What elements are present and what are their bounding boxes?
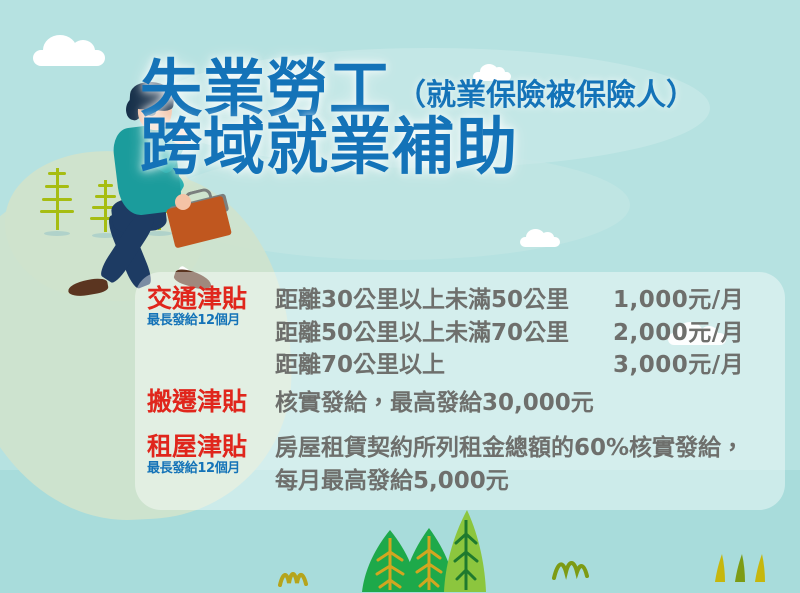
subsidy-label-text: 交通津貼 xyxy=(147,286,275,312)
subsidy-label-rent: 租屋津貼 最長發給12個月 xyxy=(147,432,275,477)
subsidy-label-relocation: 搬遷津貼 xyxy=(147,387,275,415)
leaf-icon-3 xyxy=(442,510,488,593)
tier-description: 距離70公里以上 xyxy=(275,349,613,382)
tier-amount: 2,000元/月 xyxy=(613,317,744,350)
subsidy-tier-row: 距離30公里以上未滿50公里 1,000元/月 xyxy=(275,284,744,317)
tier-amount: 3,000元/月 xyxy=(613,349,744,382)
back-shoe xyxy=(67,277,109,299)
subsidy-label-text: 搬遷津貼 xyxy=(147,389,275,415)
subsidy-body-transport: 距離30公里以上未滿50公里 1,000元/月 距離50公里以上未滿70公里 2… xyxy=(275,284,744,382)
subsidy-label-text: 租屋津貼 xyxy=(147,434,275,460)
subsidy-panel: 交通津貼 最長發給12個月 距離30公里以上未滿50公里 1,000元/月 距離… xyxy=(135,272,785,510)
poster-title: 失業勞工 （就業保險被保險人） 跨域就業補助 xyxy=(140,58,790,178)
subsidy-label-transport: 交通津貼 最長發給12個月 xyxy=(147,284,275,329)
subsidy-body-rent: 房屋租賃契約所列租金總額的60%核實發給，每月最高發給5,000元 xyxy=(275,432,745,497)
grass-squiggle-icon-2 xyxy=(552,558,590,580)
subsidy-tier-row: 距離70公里以上 3,000元/月 xyxy=(275,349,744,382)
cloud-icon-3 xyxy=(520,237,560,247)
grass-squiggle-icon-1 xyxy=(278,568,312,588)
subsidy-note-text: 最長發給12個月 xyxy=(147,461,275,477)
grass-blade-icon-group xyxy=(712,553,772,583)
subsidy-description: 核實發給，最高發給30,000元 xyxy=(275,387,594,420)
subsidy-row-transport: 交通津貼 最長發給12個月 距離30公里以上未滿50公里 1,000元/月 距離… xyxy=(147,284,744,382)
cloud-icon-1 xyxy=(33,50,105,66)
carrying-hand xyxy=(175,194,191,210)
tier-description: 距離50公里以上未滿70公里 xyxy=(275,317,613,350)
subsidy-row-relocation: 搬遷津貼 核實發給，最高發給30,000元 xyxy=(147,387,594,420)
subsidy-tier-row: 距離50公里以上未滿70公里 2,000元/月 xyxy=(275,317,744,350)
title-line-2: 跨域就業補助 xyxy=(140,116,790,178)
subsidy-row-rent: 租屋津貼 最長發給12個月 房屋租賃契約所列租金總額的60%核實發給，每月最高發… xyxy=(147,432,745,497)
subsidy-body-relocation: 核實發給，最高發給30,000元 xyxy=(275,387,594,420)
poster-canvas: 失業勞工 （就業保險被保險人） 跨域就業補助 交通津貼 最長發給12個月 距離3… xyxy=(0,0,800,593)
subsidy-description: 房屋租賃契約所列租金總額的60%核實發給，每月最高發給5,000元 xyxy=(275,432,745,497)
subsidy-note-text: 最長發給12個月 xyxy=(147,313,275,329)
tier-amount: 1,000元/月 xyxy=(613,284,744,317)
tier-description: 距離30公里以上未滿50公里 xyxy=(275,284,613,317)
